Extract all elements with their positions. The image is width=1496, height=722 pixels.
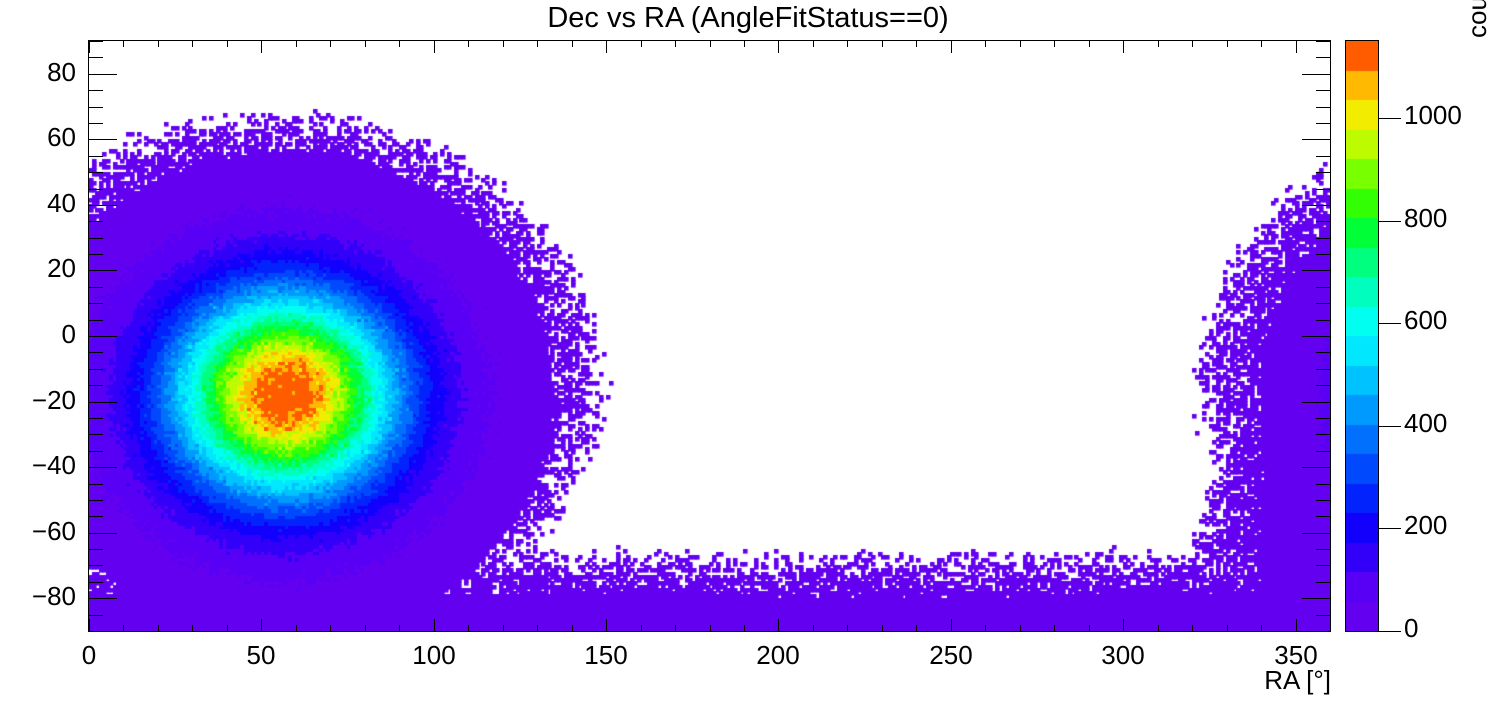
y-minor-tick [89, 631, 103, 632]
root-canvas: Dec vs RA (AngleFitStatus==0) 0501001502… [0, 0, 1496, 722]
x-major-tick [951, 619, 952, 631]
y-minor-tick [89, 57, 103, 58]
y-major-tick [89, 467, 117, 468]
x-minor-tick [399, 625, 400, 631]
x-minor-tick-top [468, 41, 469, 47]
colorbar-tick-label: 600 [1404, 305, 1447, 336]
x-minor-tick [192, 625, 193, 631]
x-minor-tick [744, 625, 745, 631]
y-minor-tick-right [1316, 320, 1330, 321]
x-minor-tick-top [537, 41, 538, 47]
x-minor-tick [1227, 625, 1228, 631]
y-minor-tick-right [1316, 385, 1330, 386]
y-major-tick [89, 74, 117, 75]
y-minor-tick-right [1316, 123, 1330, 124]
x-major-tick [606, 619, 607, 631]
y-minor-tick [89, 221, 103, 222]
x-minor-tick-top [296, 41, 297, 47]
y-tick-label: 0 [0, 319, 76, 350]
colorbar-tick [1379, 631, 1401, 632]
x-minor-tick [330, 625, 331, 631]
y-minor-tick [89, 172, 103, 173]
x-major-tick-top [434, 41, 435, 53]
x-minor-tick [158, 625, 159, 631]
y-minor-tick-right [1316, 238, 1330, 239]
y-minor-tick-right [1316, 451, 1330, 452]
y-minor-tick [89, 352, 103, 353]
y-minor-tick-right [1316, 107, 1330, 108]
colorbar-tick [1379, 426, 1401, 427]
x-major-tick [261, 619, 262, 631]
y-minor-tick-right [1316, 484, 1330, 485]
x-minor-tick [296, 625, 297, 631]
y-minor-tick [89, 123, 103, 124]
x-minor-tick [1261, 625, 1262, 631]
y-minor-tick-right [1316, 434, 1330, 435]
y-minor-tick [89, 418, 103, 419]
x-major-tick [778, 619, 779, 631]
x-tick-label: 300 [1063, 640, 1183, 671]
x-minor-tick [641, 625, 642, 631]
y-minor-tick [89, 156, 103, 157]
page-title: Dec vs RA (AngleFitStatus==0) [0, 2, 1496, 35]
x-minor-tick-top [641, 41, 642, 47]
y-minor-tick-right [1316, 631, 1330, 632]
y-major-tick-right [1302, 336, 1330, 337]
y-minor-tick-right [1316, 90, 1330, 91]
x-minor-tick-top [813, 41, 814, 47]
y-major-tick-right [1302, 598, 1330, 599]
x-minor-tick-top [1192, 41, 1193, 47]
y-minor-tick-right [1316, 549, 1330, 550]
y-tick-label: 40 [0, 188, 76, 219]
y-minor-tick [89, 107, 103, 108]
x-major-tick [89, 619, 90, 631]
y-minor-tick-right [1316, 418, 1330, 419]
x-minor-tick-top [192, 41, 193, 47]
x-minor-tick-top [399, 41, 400, 47]
x-minor-tick [1158, 625, 1159, 631]
y-minor-tick [89, 90, 103, 91]
x-major-tick-top [89, 41, 90, 53]
x-minor-tick [1054, 625, 1055, 631]
x-minor-tick [468, 625, 469, 631]
x-minor-tick [365, 625, 366, 631]
y-tick-label: 80 [0, 57, 76, 88]
y-minor-tick [89, 385, 103, 386]
y-major-tick-right [1302, 139, 1330, 140]
x-major-tick-top [606, 41, 607, 53]
y-minor-tick [89, 582, 103, 583]
y-minor-tick [89, 516, 103, 517]
x-tick-label: 250 [891, 640, 1011, 671]
x-major-tick [1123, 619, 1124, 631]
x-minor-tick-top [882, 41, 883, 47]
x-minor-tick-top [1227, 41, 1228, 47]
x-major-tick-top [261, 41, 262, 53]
colorbar-gradient [1346, 41, 1378, 631]
x-minor-tick [572, 625, 573, 631]
y-major-tick-right [1302, 402, 1330, 403]
y-minor-tick-right [1316, 221, 1330, 222]
x-minor-tick [1089, 625, 1090, 631]
x-major-tick-top [1296, 41, 1297, 53]
y-minor-tick-right [1316, 303, 1330, 304]
x-major-tick-top [1123, 41, 1124, 53]
heatmap-canvas [89, 41, 1330, 631]
y-tick-label: 20 [0, 253, 76, 284]
x-minor-tick-top [675, 41, 676, 47]
x-minor-tick-top [503, 41, 504, 47]
y-minor-tick-right [1316, 156, 1330, 157]
x-minor-tick-top [847, 41, 848, 47]
x-minor-tick [675, 625, 676, 631]
x-minor-tick-top [1261, 41, 1262, 47]
colorbar-tick-label: 1000 [1404, 100, 1462, 131]
y-tick-label: −60 [0, 516, 76, 547]
colorbar-tick [1379, 323, 1401, 324]
x-minor-tick [123, 625, 124, 631]
x-major-tick-top [951, 41, 952, 53]
y-minor-tick-right [1316, 565, 1330, 566]
y-major-tick [89, 533, 117, 534]
y-minor-tick-right [1316, 172, 1330, 173]
x-minor-tick [813, 625, 814, 631]
y-minor-tick-right [1316, 516, 1330, 517]
y-minor-tick [89, 369, 103, 370]
y-minor-tick [89, 484, 103, 485]
y-major-tick-right [1302, 533, 1330, 534]
x-minor-tick-top [1054, 41, 1055, 47]
x-minor-tick-top [227, 41, 228, 47]
y-minor-tick-right [1316, 287, 1330, 288]
x-minor-tick [847, 625, 848, 631]
y-minor-tick-right [1316, 57, 1330, 58]
x-tick-label: 50 [201, 640, 321, 671]
y-major-tick-right [1302, 74, 1330, 75]
y-minor-tick [89, 303, 103, 304]
x-minor-tick-top [365, 41, 366, 47]
colorbar-tick-label: 400 [1404, 408, 1447, 439]
y-major-tick [89, 270, 117, 271]
colorbar-tick-label: 800 [1404, 203, 1447, 234]
x-minor-tick [1020, 625, 1021, 631]
x-minor-tick [503, 625, 504, 631]
y-minor-tick-right [1316, 189, 1330, 190]
y-minor-tick [89, 451, 103, 452]
x-minor-tick-top [916, 41, 917, 47]
x-minor-tick-top [158, 41, 159, 47]
y-minor-tick [89, 500, 103, 501]
x-minor-tick-top [985, 41, 986, 47]
x-tick-label: 100 [374, 640, 494, 671]
x-minor-tick [1330, 625, 1331, 631]
x-major-tick [434, 619, 435, 631]
y-minor-tick [89, 549, 103, 550]
plot-frame [88, 40, 1331, 632]
x-tick-label: 200 [718, 640, 838, 671]
x-minor-tick [916, 625, 917, 631]
y-minor-tick-right [1316, 352, 1330, 353]
y-minor-tick-right [1316, 582, 1330, 583]
x-minor-tick-top [330, 41, 331, 47]
x-minor-tick-top [1089, 41, 1090, 47]
y-minor-tick [89, 41, 103, 42]
colorbar-title: count [1462, 0, 1493, 38]
y-minor-tick [89, 320, 103, 321]
colorbar-tick [1379, 118, 1401, 119]
y-major-tick [89, 139, 117, 140]
x-tick-label: 0 [29, 640, 149, 671]
y-minor-tick [89, 287, 103, 288]
y-minor-tick-right [1316, 41, 1330, 42]
y-tick-label: 60 [0, 122, 76, 153]
x-minor-tick [985, 625, 986, 631]
x-minor-tick-top [1158, 41, 1159, 47]
colorbar-tick [1379, 528, 1401, 529]
y-major-tick [89, 336, 117, 337]
y-major-tick [89, 205, 117, 206]
x-minor-tick [882, 625, 883, 631]
colorbar [1345, 40, 1379, 632]
colorbar-tick-label: 0 [1404, 613, 1418, 644]
x-minor-tick [537, 625, 538, 631]
y-minor-tick-right [1316, 615, 1330, 616]
x-minor-tick [1192, 625, 1193, 631]
y-tick-label: −40 [0, 450, 76, 481]
colorbar-tick [1379, 221, 1401, 222]
y-major-tick-right [1302, 270, 1330, 271]
y-minor-tick [89, 565, 103, 566]
y-minor-tick-right [1316, 369, 1330, 370]
y-major-tick [89, 402, 117, 403]
y-minor-tick-right [1316, 500, 1330, 501]
y-tick-label: −20 [0, 385, 76, 416]
x-minor-tick-top [710, 41, 711, 47]
y-tick-label: −80 [0, 581, 76, 612]
y-major-tick-right [1302, 205, 1330, 206]
x-minor-tick-top [744, 41, 745, 47]
x-minor-tick-top [1020, 41, 1021, 47]
x-minor-tick-top [572, 41, 573, 47]
x-tick-label: 150 [546, 640, 666, 671]
x-minor-tick [227, 625, 228, 631]
x-major-tick-top [778, 41, 779, 53]
x-major-tick [1296, 619, 1297, 631]
y-major-tick [89, 598, 117, 599]
x-minor-tick-top [1330, 41, 1331, 47]
y-minor-tick [89, 434, 103, 435]
y-minor-tick [89, 238, 103, 239]
x-minor-tick [710, 625, 711, 631]
y-minor-tick [89, 254, 103, 255]
y-minor-tick-right [1316, 254, 1330, 255]
x-axis-title: RA [°] [1264, 665, 1331, 696]
y-minor-tick [89, 189, 103, 190]
colorbar-tick-label: 200 [1404, 510, 1447, 541]
x-minor-tick-top [123, 41, 124, 47]
y-major-tick-right [1302, 467, 1330, 468]
y-minor-tick [89, 615, 103, 616]
